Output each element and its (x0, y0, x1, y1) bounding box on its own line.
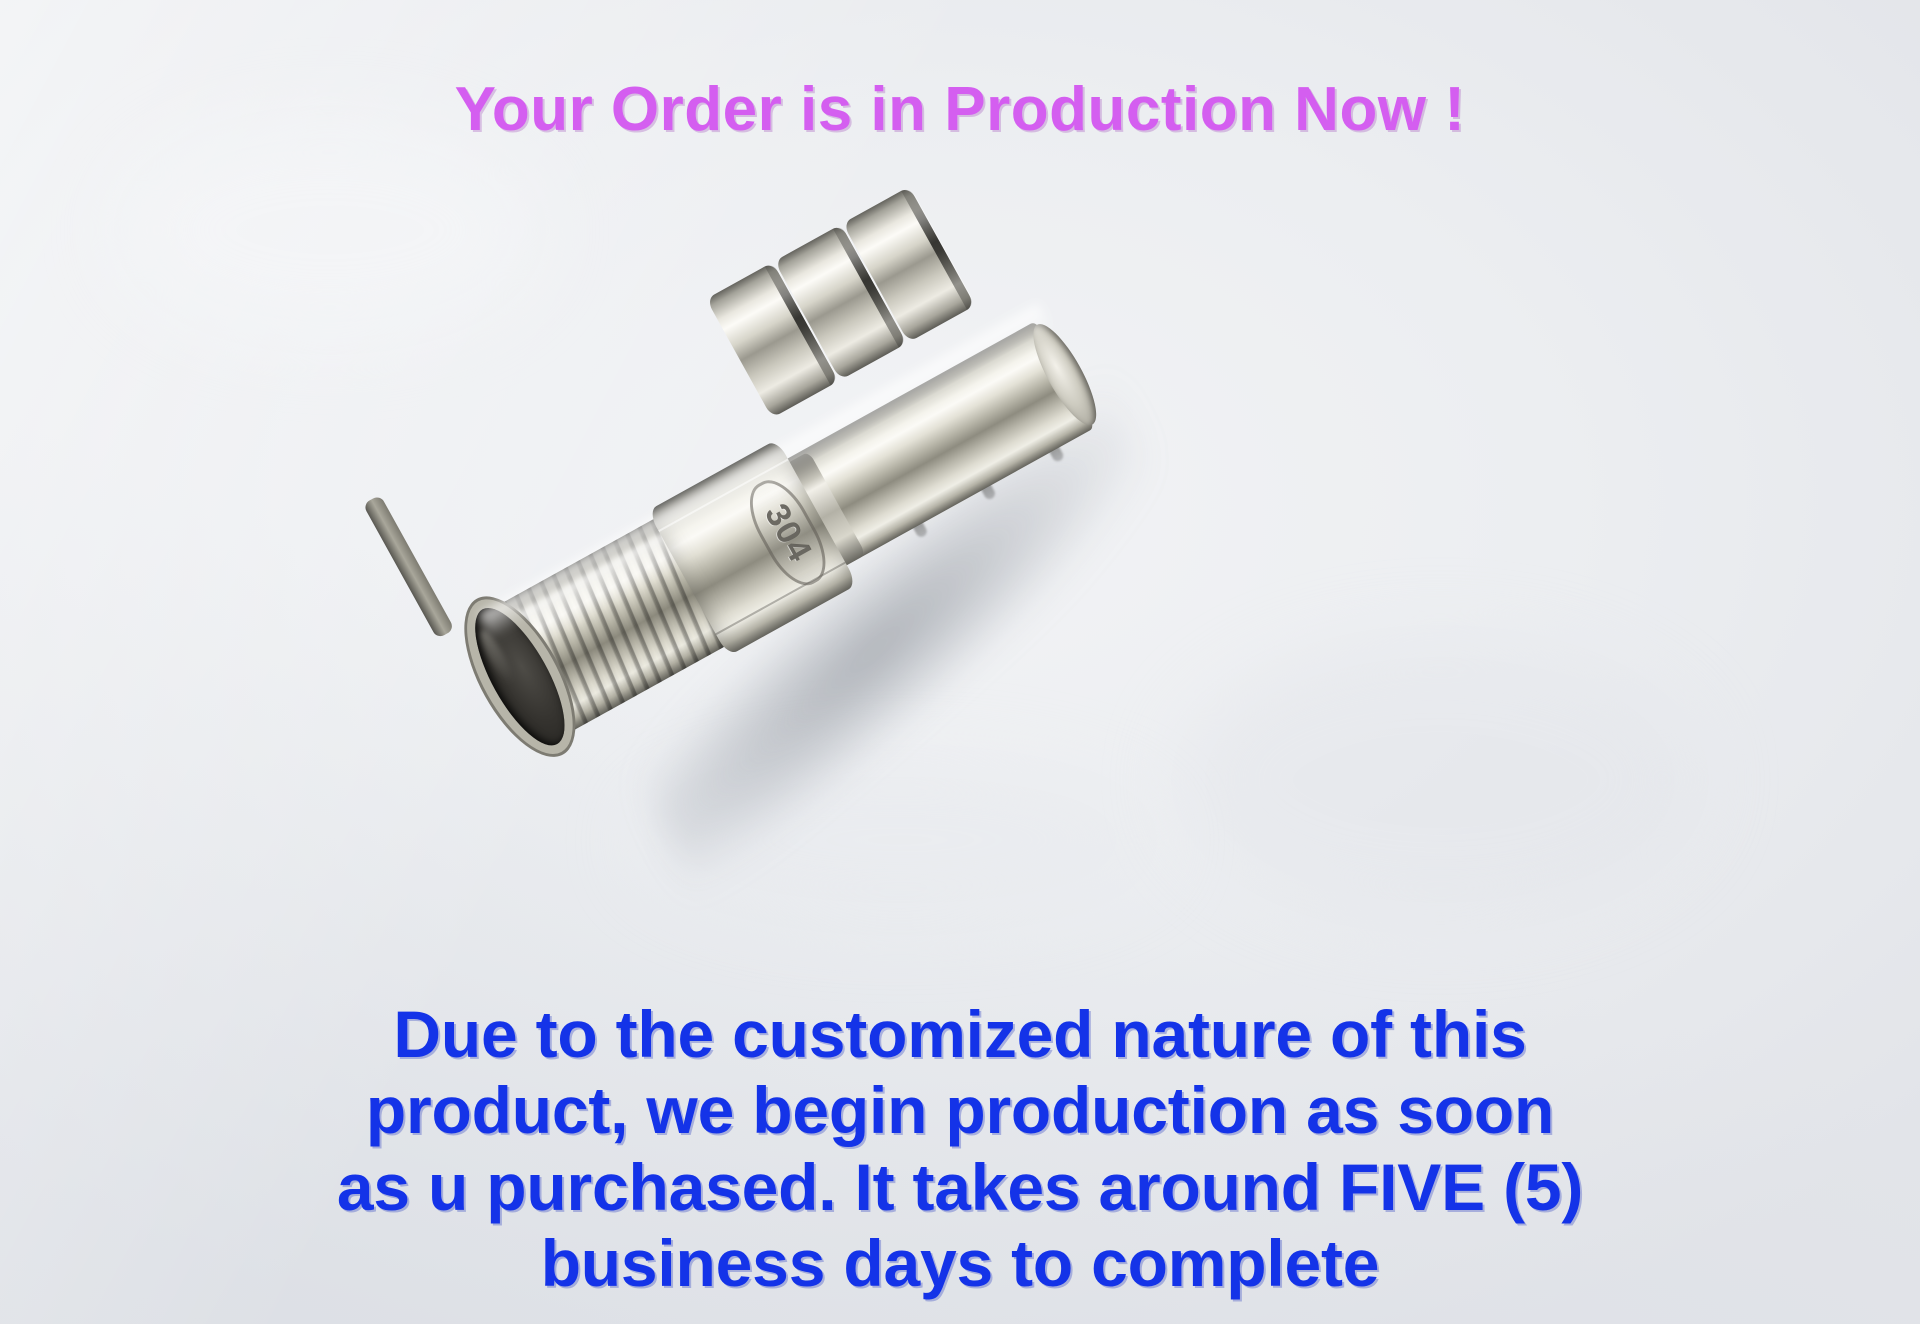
hex-chamfer (363, 495, 455, 639)
production-notice: Due to the customized nature of this pro… (0, 996, 1920, 1302)
bore-highlight (476, 627, 517, 686)
notice-line-3: as u purchased. It takes around FIVE (5) (0, 1149, 1920, 1226)
notice-line-1: Due to the customized nature of this (0, 996, 1920, 1073)
notice-line-4: business days to complete (0, 1225, 1920, 1302)
material-grade-text: 304 (756, 497, 819, 568)
promo-banner: Your Order is in Production Now ! 304 (0, 0, 1920, 1324)
background-smudge-2 (1180, 640, 1700, 920)
page-title: Your Order is in Production Now ! (0, 74, 1920, 145)
product-image: 304 (430, 290, 1160, 740)
notice-line-2: product, we begin production as soon (0, 1072, 1920, 1149)
hose-barb-fitting-graphic: 304 (367, 141, 1224, 888)
